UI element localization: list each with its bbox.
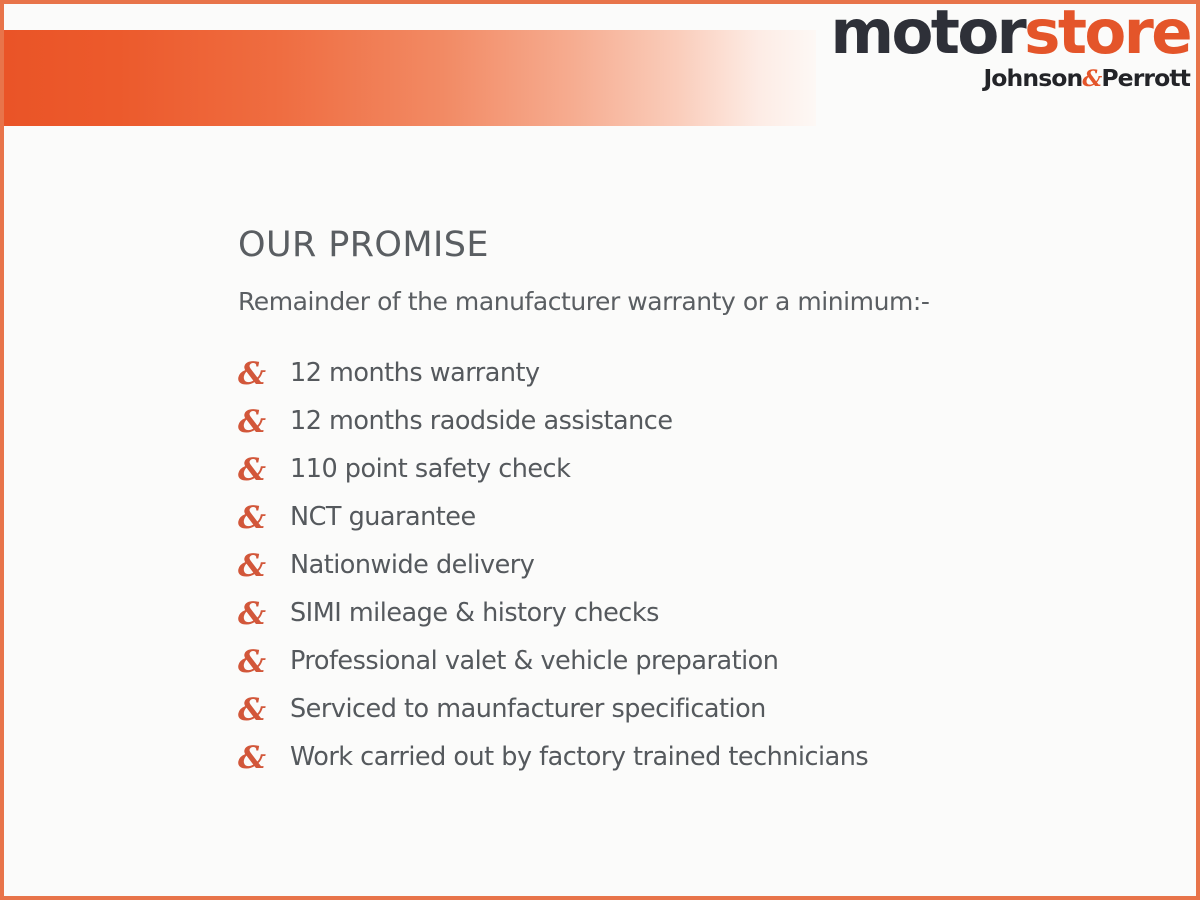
ampersand-bullet-icon: & <box>238 647 290 678</box>
orange-gradient-bar <box>4 30 816 126</box>
list-item: & 110 point safety check <box>238 446 1138 494</box>
list-item: & Work carried out by factory trained te… <box>238 734 1138 782</box>
ampersand-bullet-icon: & <box>238 455 290 486</box>
logo-word-store: store <box>1024 0 1190 68</box>
list-item: & NCT guarantee <box>238 494 1138 542</box>
ampersand-bullet-icon: & <box>238 551 290 582</box>
ampersand-bullet-icon: & <box>238 503 290 534</box>
ampersand-bullet-icon: & <box>238 743 290 774</box>
logo-word-motor: motor <box>831 0 1025 68</box>
list-item-label: Professional valet & vehicle preparation <box>290 649 778 675</box>
list-item-label: SIMI mileage & history checks <box>290 601 659 627</box>
logo-sub-johnson: Johnson <box>983 64 1082 92</box>
logo-sub-perrott: Perrott <box>1101 64 1190 92</box>
list-item: & SIMI mileage & history checks <box>238 590 1138 638</box>
list-item: & 12 months warranty <box>238 350 1138 398</box>
logo-wordmark: motorstore <box>830 2 1190 63</box>
list-item: & Professional valet & vehicle preparati… <box>238 638 1138 686</box>
list-item: & 12 months raodside assistance <box>238 398 1138 446</box>
ampersand-bullet-icon: & <box>238 407 290 438</box>
ampersand-bullet-icon: & <box>238 359 290 390</box>
list-item-label: 110 point safety check <box>290 457 570 483</box>
promise-subtitle: Remainder of the manufacturer warranty o… <box>238 289 1138 314</box>
list-item-label: Work carried out by factory trained tech… <box>290 745 868 771</box>
logo-subtitle: Johnson&Perrott <box>830 67 1190 91</box>
list-item-label: 12 months warranty <box>290 361 540 387</box>
list-item-label: Nationwide delivery <box>290 553 534 579</box>
ampersand-icon: & <box>1082 66 1101 92</box>
list-item: & Serviced to maunfacturer specification <box>238 686 1138 734</box>
list-item-label: 12 months raodside assistance <box>290 409 673 435</box>
brand-logo: motorstore Johnson&Perrott <box>830 2 1190 91</box>
promise-slide: motorstore Johnson&Perrott OUR PROMISE R… <box>0 0 1200 900</box>
list-item: & Nationwide delivery <box>238 542 1138 590</box>
list-item-label: Serviced to maunfacturer specification <box>290 697 766 723</box>
list-item-label: NCT guarantee <box>290 505 476 531</box>
promise-list: & 12 months warranty & 12 months raodsid… <box>238 350 1138 782</box>
promise-content: OUR PROMISE Remainder of the manufacture… <box>238 228 1138 782</box>
page-title: OUR PROMISE <box>238 228 1138 263</box>
ampersand-bullet-icon: & <box>238 695 290 726</box>
ampersand-bullet-icon: & <box>238 599 290 630</box>
